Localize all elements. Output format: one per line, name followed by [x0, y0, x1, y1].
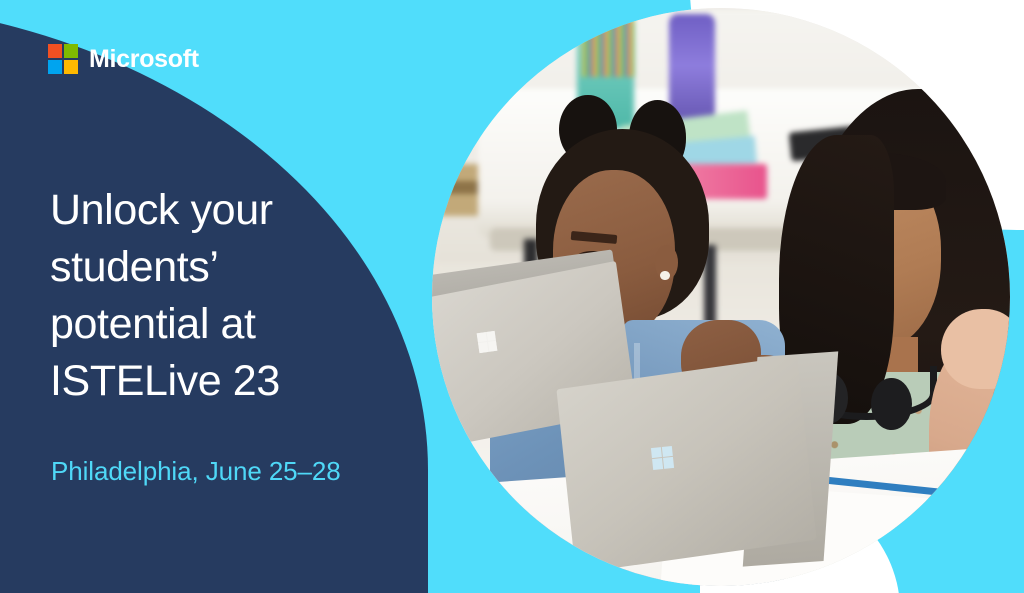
- page-title: Unlock your students’ potential at ISTEL…: [50, 182, 400, 410]
- windows-logo-icon: [651, 446, 674, 470]
- headphone-earcup: [871, 378, 911, 430]
- windows-logo-icon: [477, 330, 498, 352]
- pencils: [582, 8, 634, 77]
- earring: [660, 271, 669, 280]
- surface-device-front: [556, 356, 816, 574]
- event-location-date: Philadelphia, June 25–28: [51, 456, 341, 487]
- microsoft-logo-icon: [48, 44, 78, 74]
- logo-square-blue: [48, 60, 62, 74]
- logo-square-green: [64, 44, 78, 58]
- logo-square-red: [48, 44, 62, 58]
- hero-content: Microsoft Unlock your students’ potentia…: [0, 0, 428, 593]
- microsoft-wordmark: Microsoft: [89, 47, 199, 72]
- logo-square-yellow: [64, 60, 78, 74]
- hero-photo: [432, 8, 1010, 586]
- hero-banner: Microsoft Unlock your students’ potentia…: [0, 0, 1024, 593]
- microsoft-logo[interactable]: Microsoft: [48, 44, 199, 74]
